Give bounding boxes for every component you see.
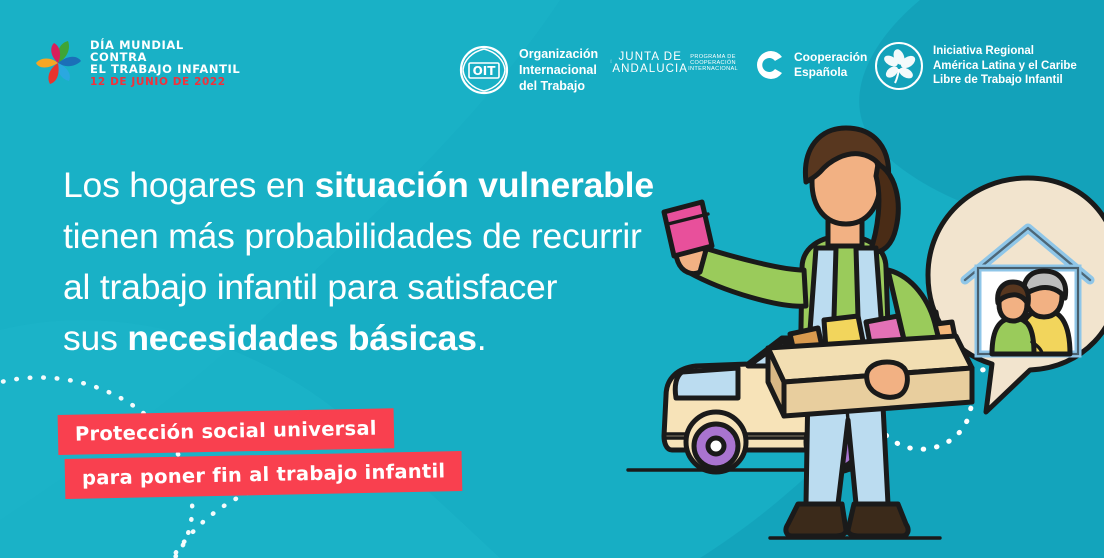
- wdacl-date: 12 DE JUNIO DE 2022: [90, 77, 240, 88]
- headline-line-4: sus necesidades básicas.: [63, 313, 703, 364]
- ilo-line-2: Internacional: [519, 62, 598, 78]
- illustration-woman-with-groceries: .o{stroke:#1A1A1A;stroke-width:5;stroke-…: [620, 120, 1104, 558]
- flower-circle-icon: [874, 41, 924, 91]
- slogan-row-2: para poner fin al trabajo infantil: [65, 451, 463, 499]
- headline-line-1-bold: situación vulnerable: [315, 165, 654, 205]
- headline-line-2: tienen más probabilidades de recurrir: [63, 211, 703, 262]
- logo-ilo: OIT Organización Internacional del Traba…: [458, 44, 598, 96]
- ilo-logo-text: Organización Internacional del Trabajo: [519, 46, 598, 94]
- logo-bar: DÍA MUNDIAL CONTRA EL TRABAJO INFANTIL 1…: [0, 0, 1104, 118]
- headline-line-3: al trabajo infantil para satisfacer: [63, 262, 703, 313]
- iniciativa-logo-text: Iniciativa Regional América Latina y el …: [933, 44, 1077, 89]
- iniciativa-line-2: América Latina y el Caribe: [933, 59, 1077, 74]
- logo-junta-de-andalucia: JUNTA DE ANDALUCIA PROGRAMA DE COOPERACI…: [610, 42, 738, 80]
- sponge-icon: [664, 202, 712, 256]
- illustration-svg: .o{stroke:#1A1A1A;stroke-width:5;stroke-…: [620, 120, 1104, 558]
- logo-cooperacion-espanola: Cooperación Española: [756, 50, 867, 80]
- coop-line-1: Cooperación: [794, 50, 867, 65]
- coop-logo-text: Cooperación Española: [794, 50, 867, 80]
- right-shoe: [848, 504, 908, 536]
- headline-line-4-period: .: [477, 318, 487, 358]
- headline-line-4-bold: necesidades básicas: [127, 318, 476, 358]
- headline: Los hogares en situación vulnerable tien…: [63, 160, 703, 364]
- junta-name: JUNTA DE ANDALUCIA: [612, 51, 688, 75]
- right-hand: [867, 362, 908, 397]
- headline-line-4-plain: sus: [63, 318, 127, 358]
- iniciativa-line-3: Libre de Trabajo Infantil: [933, 73, 1077, 88]
- headline-line-1: Los hogares en situación vulnerable: [63, 160, 703, 211]
- wdacl-line-3: EL TRABAJO INFANTIL: [90, 64, 240, 76]
- ilo-emblem-icon: OIT: [458, 44, 510, 96]
- pinwheel-icon: [36, 38, 82, 90]
- woman-with-crate-figure: [664, 128, 972, 536]
- headline-line-1-plain: Los hogares en: [63, 165, 315, 205]
- slogan-row-1: Protección social universal: [58, 408, 395, 455]
- slogan-line-1: Protección social universal: [58, 408, 395, 455]
- svg-text:OIT: OIT: [473, 64, 497, 78]
- ilo-line-1: Organización: [519, 46, 598, 62]
- slogan-line-2: para poner fin al trabajo infantil: [65, 451, 463, 499]
- left-shoe: [786, 504, 846, 536]
- iniciativa-line-1: Iniciativa Regional: [933, 44, 1077, 59]
- cooperacion-c-icon: [756, 50, 786, 80]
- logo-iniciativa-regional: Iniciativa Regional América Latina y el …: [874, 41, 1077, 91]
- junta-subtitle: PROGRAMA DE COOPERACIÓN INTERNACIONAL: [688, 54, 738, 72]
- coop-line-2: Española: [794, 65, 867, 80]
- campaign-banner: DÍA MUNDIAL CONTRA EL TRABAJO INFANTIL 1…: [0, 0, 1104, 558]
- logo-world-day-against-child-labour: DÍA MUNDIAL CONTRA EL TRABAJO INFANTIL 1…: [36, 38, 240, 90]
- slogan-block: Protección social universal para poner f…: [58, 415, 462, 499]
- ilo-line-3: del Trabajo: [519, 78, 598, 94]
- wdacl-logo-text: DÍA MUNDIAL CONTRA EL TRABAJO INFANTIL 1…: [90, 40, 240, 88]
